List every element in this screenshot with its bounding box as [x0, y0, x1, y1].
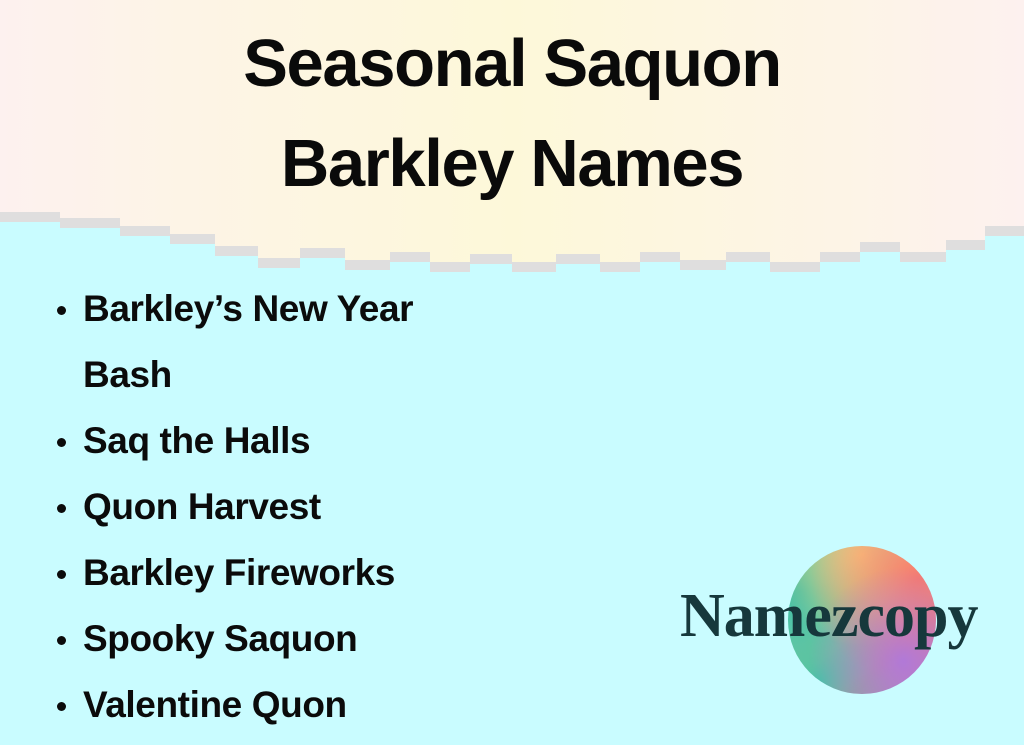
names-list-area: Barkley’s New Year Bash Saq the Halls Qu… [0, 276, 660, 738]
header-band [0, 0, 1024, 272]
list-item: Saq the Halls [57, 408, 660, 474]
list-item-label: Barkley’s New Year [83, 288, 413, 329]
brand-wordmark: Namezcopy [680, 581, 1000, 651]
list-item-label: Saq the Halls [83, 420, 310, 461]
list-item: Barkley’s New Year Bash [57, 276, 660, 408]
brand-logo[interactable]: Namezcopy [680, 540, 1000, 710]
list-item-label: Spooky Saquon [83, 618, 357, 659]
list-item-label: Quon Harvest [83, 486, 321, 527]
list-item-label: Valentine Quon [83, 684, 347, 725]
list-item-label-wrap: Bash [83, 342, 660, 408]
list-item-label: Barkley Fireworks [83, 552, 395, 593]
list-item: Barkley Fireworks [57, 540, 660, 606]
poster-canvas: Seasonal Saquon Barkley Names Barkley’s … [0, 0, 1024, 745]
list-item: Valentine Quon [57, 672, 660, 738]
list-item: Spooky Saquon [57, 606, 660, 672]
list-item: Quon Harvest [57, 474, 660, 540]
names-list: Barkley’s New Year Bash Saq the Halls Qu… [0, 276, 660, 738]
torn-edge-graphic [0, 0, 1024, 272]
torn-edge-fill [0, 0, 1024, 262]
